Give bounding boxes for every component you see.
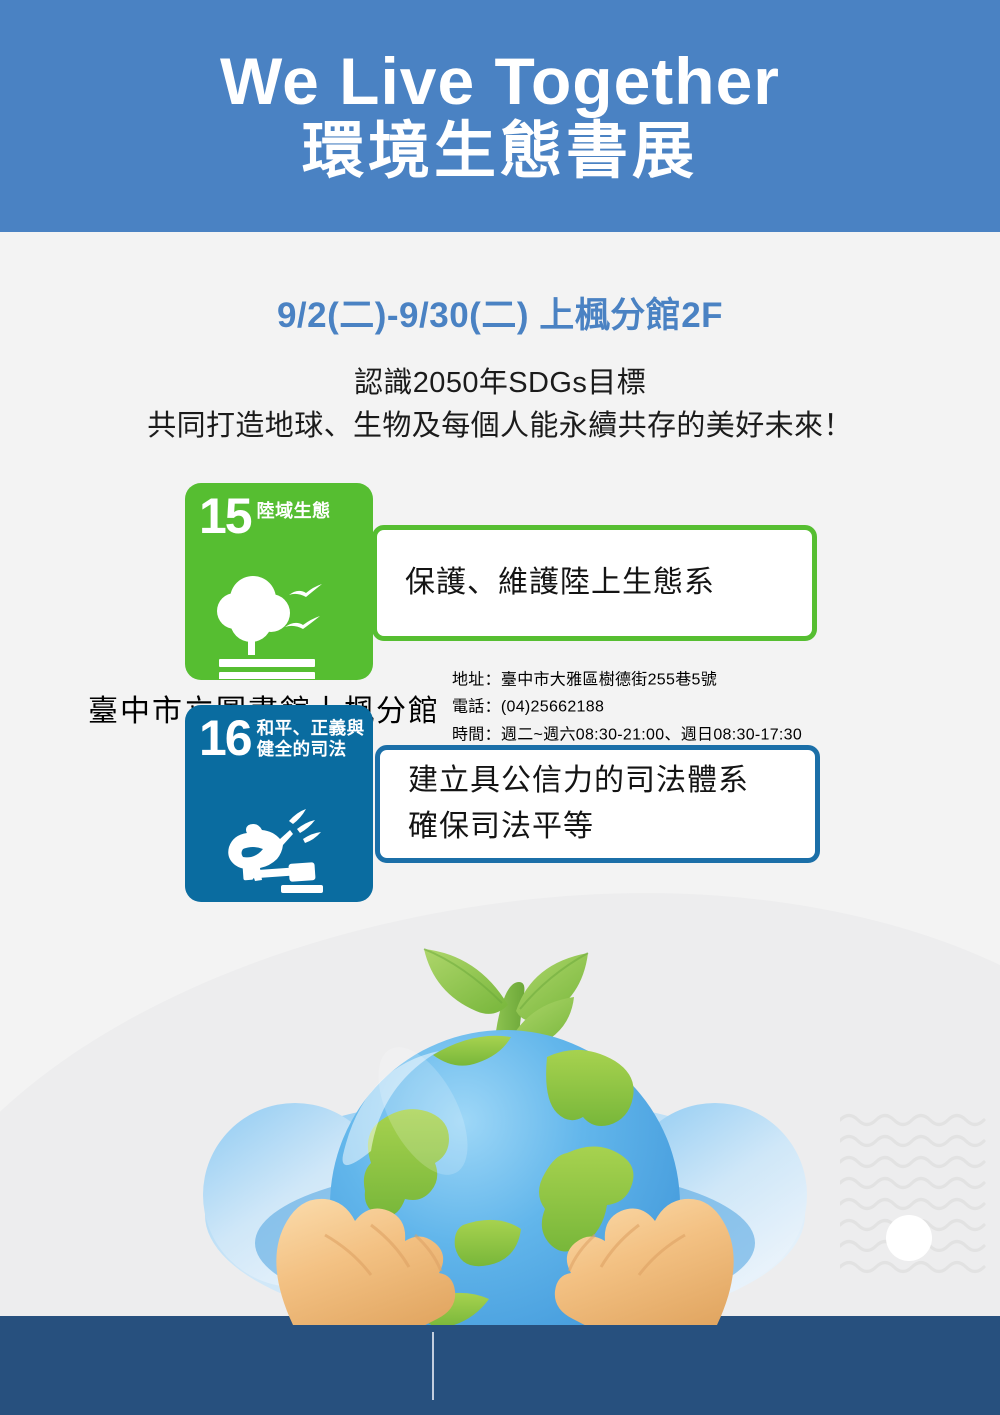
dove-and-gavel-icon: [185, 791, 373, 901]
title-english: We Live Together: [220, 48, 780, 115]
white-circle-decoration: [886, 1215, 932, 1261]
sdg-16-callout-box: 建立具公信力的司法體系 確保司法平等: [375, 745, 820, 863]
sdg-15-badge: 15 陸域生態: [185, 483, 373, 680]
sdg-15-callout-line-1: 保護、維護陸上生態系: [377, 560, 812, 607]
sdg-16-number: 16: [199, 716, 251, 760]
footer-contact-info: 地址：臺中市大雅區樹德街255巷5號 電話：(04)25662188 時間：週二…: [452, 666, 802, 749]
poster-canvas: We Live Together 環境生態書展 9/2(二)-9/30(二) 上…: [0, 0, 1000, 1415]
event-subtitle: 認識2050年SDGs目標 共同打造地球、生物及每個人能永續共存的美好未來！: [0, 362, 1000, 447]
hands-holding-earth-illustration: [175, 895, 835, 1325]
sdg-16-badge: 16 和平、正義與 健全的司法: [185, 705, 373, 902]
sdg-15-badge-head: 15 陸域生態: [199, 494, 365, 538]
sdg-16-label-line-1: 和平、正義與: [257, 718, 365, 739]
title-chinese: 環境生態書展: [302, 119, 698, 184]
poster-footer: [0, 1316, 1000, 1415]
footer-phone: 電話：(04)25662188: [452, 694, 802, 722]
sdg-16-label: 和平、正義與 健全的司法: [257, 716, 365, 760]
footer-address: 地址：臺中市大雅區樹德街255巷5號: [452, 666, 802, 694]
event-date-location: 9/2(二)-9/30(二) 上楓分館2F: [0, 287, 1000, 338]
sdg-15-callout-box: 保護、維護陸上生態系: [372, 525, 817, 641]
subtitle-line-1: 認識2050年SDGs目標: [0, 362, 1000, 405]
sdg-16-callout-line-2: 確保司法平等: [380, 804, 815, 851]
sdg-15-number: 15: [199, 494, 251, 538]
wave-pattern-decoration: [840, 1110, 990, 1290]
sdg-16-badge-head: 16 和平、正義與 健全的司法: [199, 716, 365, 760]
sdg-15-label: 陸域生態: [257, 494, 331, 521]
tree-and-birds-icon: [185, 569, 373, 679]
sdg-16-callout-line-1: 建立具公信力的司法體系: [380, 758, 815, 805]
sdg-16-label-line-2: 健全的司法: [257, 739, 365, 760]
footer-divider: [432, 1332, 434, 1400]
poster-header: We Live Together 環境生態書展: [0, 0, 1000, 232]
subtitle-line-2: 共同打造地球、生物及每個人能永續共存的美好未來！: [0, 405, 1000, 448]
